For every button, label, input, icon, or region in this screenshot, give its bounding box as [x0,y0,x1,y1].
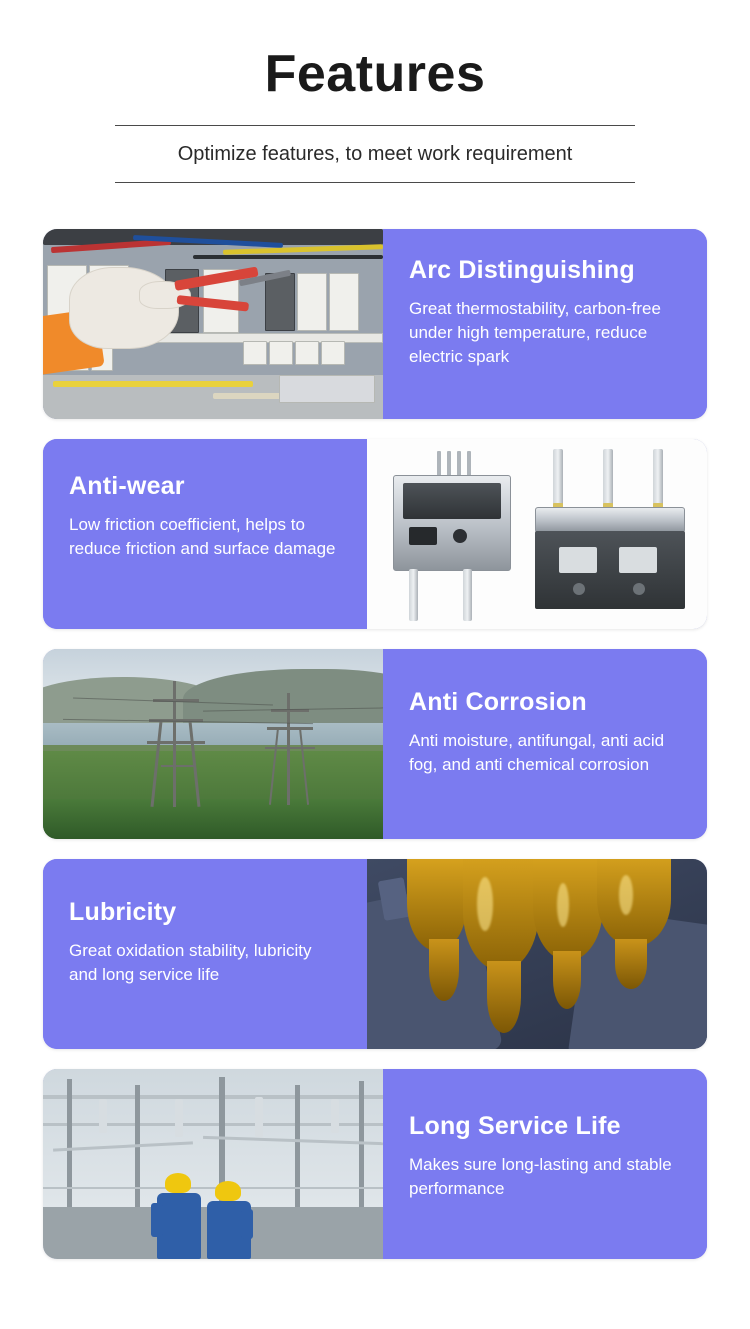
substation-workers-photo [43,1069,383,1259]
electrical-panel-photo [43,229,383,419]
header-divider-top [115,125,635,126]
gear-grease-photo [367,859,707,1049]
feature-card-title: Arc Distinguishing [409,257,683,285]
feature-card-text: Anti-wear Low friction coefficient, help… [43,439,367,629]
feature-card-text: Arc Distinguishing Great thermostability… [383,229,707,419]
feature-card-description: Makes sure long-lasting and stable perfo… [409,1153,683,1201]
feature-card-title: Lubricity [69,899,343,927]
page-header: Features Optimize features, to meet work… [0,0,750,183]
slide-switch-photo [367,439,707,629]
feature-card-title: Anti Corrosion [409,689,683,717]
feature-card-text: Anti Corrosion Anti moisture, antifungal… [383,649,707,839]
feature-card-description: Great oxidation stability, lubricity and… [69,939,343,987]
page-subtitle: Optimize features, to meet work requirem… [0,142,750,166]
feature-card-text: Lubricity Great oxidation stability, lub… [43,859,367,1049]
feature-card-text: Long Service Life Makes sure long-lastin… [383,1069,707,1259]
feature-card-arc-distinguishing[interactable]: Arc Distinguishing Great thermostability… [43,229,707,419]
feature-card-list: Arc Distinguishing Great thermostability… [0,229,750,1259]
feature-card-anti-corrosion[interactable]: Anti Corrosion Anti moisture, antifungal… [43,649,707,839]
features-page: Features Optimize features, to meet work… [0,0,750,1329]
feature-card-lubricity[interactable]: Lubricity Great oxidation stability, lub… [43,859,707,1049]
feature-card-title: Anti-wear [69,473,343,501]
feature-card-description: Low friction coefficient, helps to reduc… [69,513,343,561]
feature-card-title: Long Service Life [409,1113,683,1141]
page-title: Features [0,46,750,103]
feature-card-description: Anti moisture, antifungal, anti acid fog… [409,729,683,777]
feature-card-description: Great thermostability, carbon-free under… [409,297,683,369]
feature-card-long-service-life[interactable]: Long Service Life Makes sure long-lastin… [43,1069,707,1259]
header-divider-bottom [115,182,635,183]
transmission-tower-photo [43,649,383,839]
feature-card-anti-wear[interactable]: Anti-wear Low friction coefficient, help… [43,439,707,629]
